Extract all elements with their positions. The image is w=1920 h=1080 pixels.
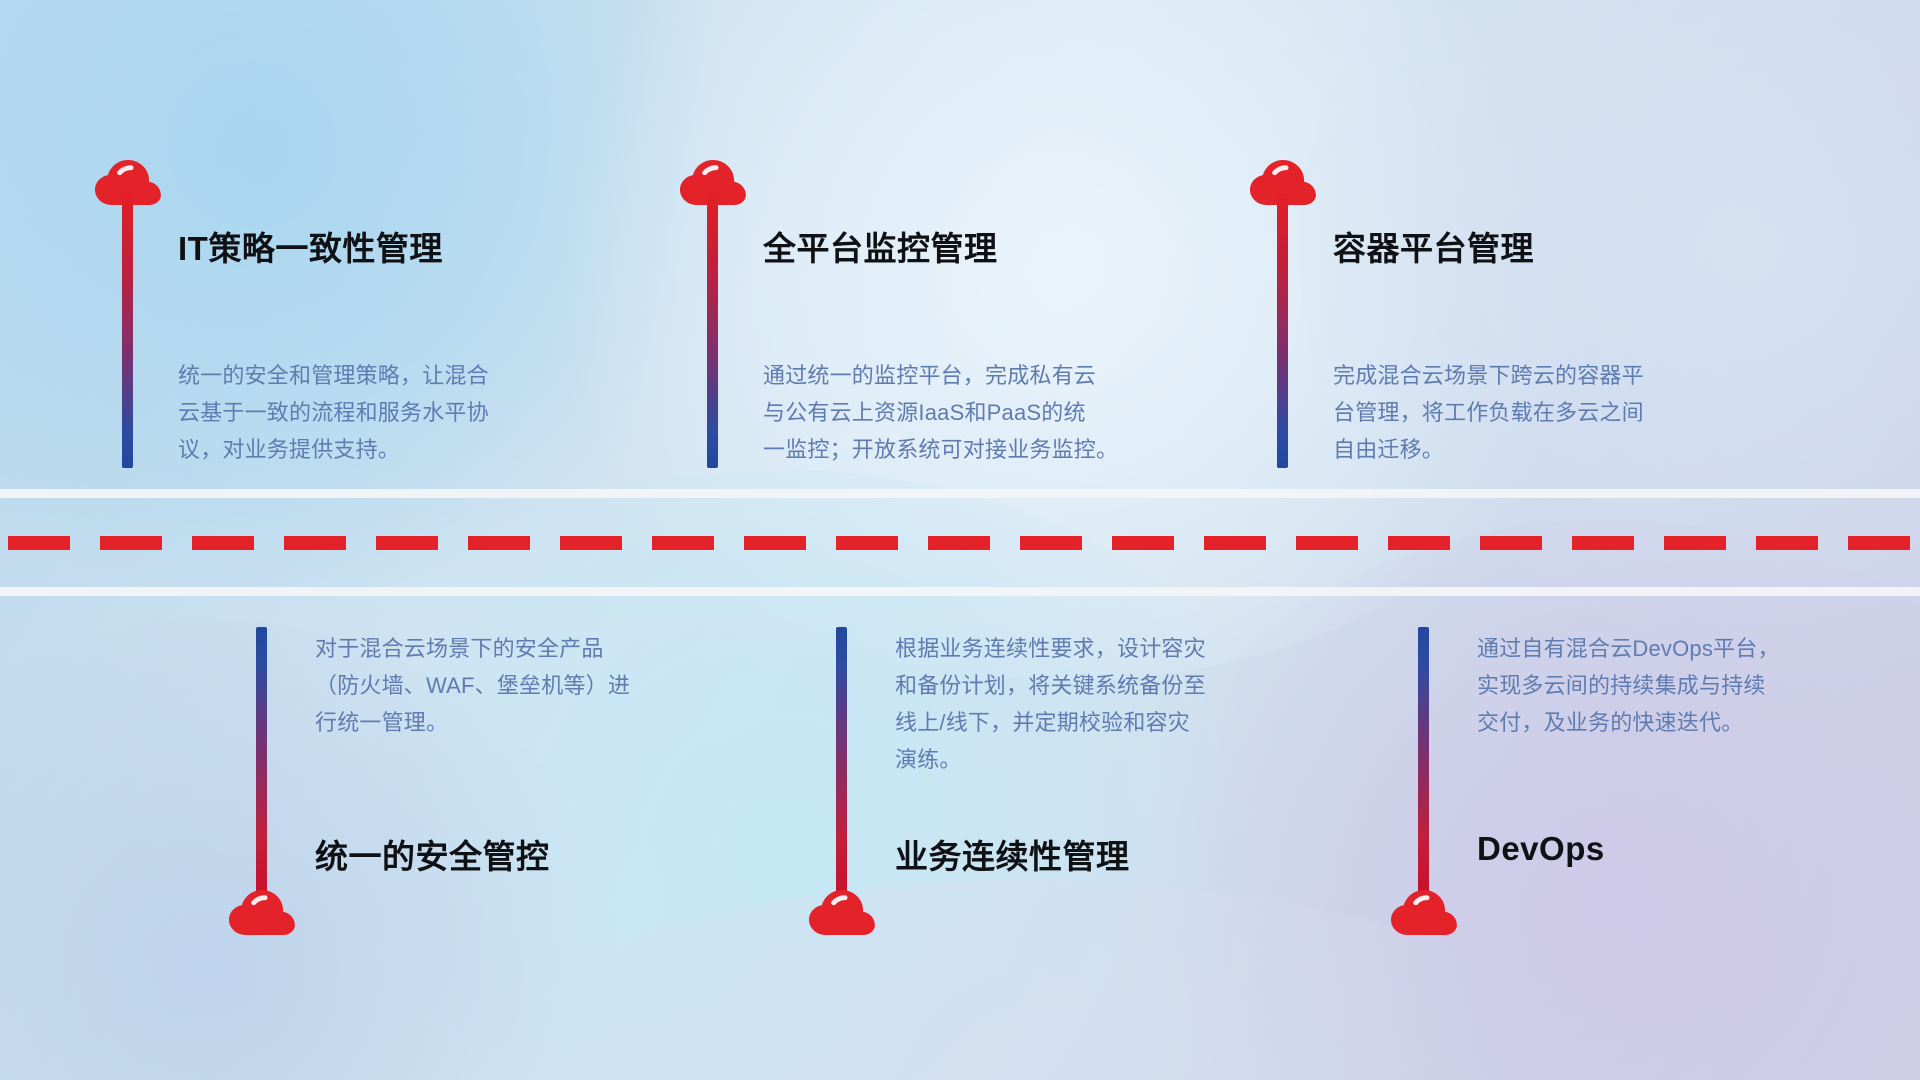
background-bloom xyxy=(0,0,760,600)
road-rail-bottom xyxy=(0,587,1920,596)
top-item-heading: 容器平台管理 xyxy=(1333,222,1534,270)
road-dash xyxy=(376,536,438,550)
top-item-heading: IT策略一致性管理 xyxy=(178,222,443,270)
road-dash xyxy=(1020,536,1082,550)
road-dash xyxy=(1572,536,1634,550)
background-bloom xyxy=(1120,520,1920,1080)
connector-stem xyxy=(122,198,133,468)
bottom-item-heading: 统一的安全管控 xyxy=(315,830,550,878)
cloud-icon xyxy=(229,890,295,936)
road-dash xyxy=(744,536,806,550)
road-dash xyxy=(284,536,346,550)
cloud-icon xyxy=(809,890,875,936)
road-dash xyxy=(1388,536,1450,550)
bottom-item-body: 根据业务连续性要求，设计容灾 和备份计划，将关键系统备份至 线上/线下，并定期校… xyxy=(895,630,1335,778)
road-dash xyxy=(928,536,990,550)
top-item-body: 完成混合云场景下跨云的容器平 台管理，将工作负载在多云之间 自由迁移。 xyxy=(1333,357,1773,468)
road-dash xyxy=(468,536,530,550)
bottom-item-body: 对于混合云场景下的安全产品 （防火墙、WAF、堡垒机等）进 行统一管理。 xyxy=(315,630,745,741)
road-dash xyxy=(1848,536,1910,550)
connector-stem xyxy=(256,627,267,897)
road-dash xyxy=(1296,536,1358,550)
road-dash xyxy=(192,536,254,550)
bottom-item-heading: 业务连续性管理 xyxy=(895,830,1130,878)
bottom-item-body: 通过自有混合云DevOps平台， 实现多云间的持续集成与持续 交付，及业务的快速… xyxy=(1477,630,1897,741)
road-dash xyxy=(836,536,898,550)
road-rail-top xyxy=(0,489,1920,498)
background-bloom xyxy=(520,0,1620,680)
road-dash xyxy=(1664,536,1726,550)
top-item-body: 通过统一的监控平台，完成私有云 与公有云上资源IaaS和PaaS的统 一监控；开… xyxy=(763,357,1213,468)
infographic-canvas: IT策略一致性管理 统一的安全和管理策略，让混合 云基于一致的流程和服务水平协 … xyxy=(0,0,1920,1080)
top-item-body: 统一的安全和管理策略，让混合 云基于一致的流程和服务水平协 议，对业务提供支持。 xyxy=(178,357,608,468)
road-dash xyxy=(8,536,70,550)
road-dash xyxy=(652,536,714,550)
connector-stem xyxy=(707,198,718,468)
connector-stem xyxy=(1418,627,1429,897)
cloud-icon xyxy=(1391,890,1457,936)
road-dash xyxy=(1112,536,1174,550)
road-dash xyxy=(1756,536,1818,550)
road-dash xyxy=(560,536,622,550)
bottom-item-heading: DevOps xyxy=(1477,830,1605,868)
road-dashed-centerline xyxy=(0,536,1920,550)
road-dash xyxy=(100,536,162,550)
connector-stem xyxy=(836,627,847,897)
top-item-heading: 全平台监控管理 xyxy=(763,222,998,270)
road-dash xyxy=(1204,536,1266,550)
connector-stem xyxy=(1277,198,1288,468)
road-dash xyxy=(1480,536,1542,550)
